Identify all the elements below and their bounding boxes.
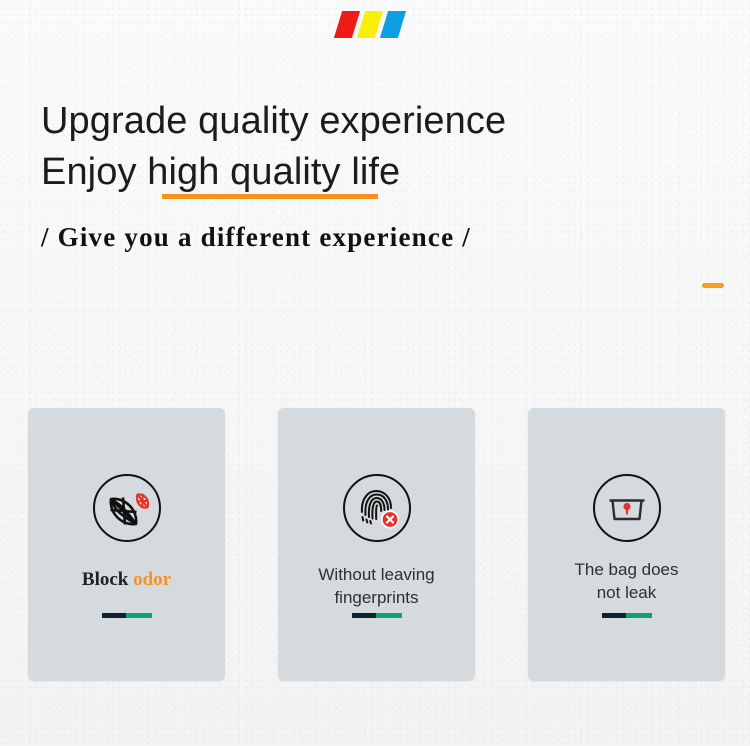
- feature-card-list: Block odor: [28, 408, 725, 681]
- feature-card-no-leak[interactable]: The bag does not leak: [528, 408, 725, 681]
- feature-card-no-fingerprints[interactable]: Without leaving fingerprints: [278, 408, 475, 681]
- feature-card-title-accent: odor: [133, 569, 171, 590]
- feature-card-dash: [102, 613, 152, 618]
- headline-line-2: Enjoy high quality life: [41, 151, 400, 193]
- brand-bar-red: [334, 11, 360, 38]
- feature-card-title-line-2: fingerprints: [286, 586, 467, 609]
- feature-card-title: Without leaving fingerprints: [278, 563, 475, 609]
- subtitle: / Give you a different experience /: [41, 222, 471, 253]
- dash-segment-teal: [376, 613, 402, 618]
- dash-segment-teal: [126, 613, 152, 618]
- feature-card-title: The bag does not leak: [528, 558, 725, 604]
- feature-card-title-line-2: not leak: [536, 581, 717, 604]
- dash-segment-dark: [352, 613, 376, 618]
- headline-line-1: Upgrade quality experience: [41, 96, 681, 147]
- feature-card-title-plain: Block: [82, 569, 133, 590]
- dash-segment-teal: [626, 613, 652, 618]
- dash-segment-dark: [102, 613, 126, 618]
- feature-card-dash: [352, 613, 402, 618]
- accent-dash: [702, 283, 724, 288]
- feature-card-title-line-1: The bag does: [536, 558, 717, 581]
- brand-bar-yellow: [357, 11, 383, 38]
- dash-segment-dark: [602, 613, 626, 618]
- feature-card-title-line-1: Without leaving: [286, 563, 467, 586]
- feature-card-block-odor[interactable]: Block odor: [28, 408, 225, 681]
- fingerprint-blocked-icon: [341, 472, 413, 544]
- brand-bar-group: [338, 11, 402, 38]
- leaf-odor-icon: [91, 472, 163, 544]
- headline-underline-accent: [162, 194, 378, 199]
- brand-bar-blue: [380, 11, 406, 38]
- headline-line-2-wrap: Enjoy high quality life: [41, 147, 400, 198]
- sealed-bag-icon: [591, 472, 663, 544]
- feature-card-title: Block odor: [28, 568, 225, 591]
- feature-card-dash: [602, 613, 652, 618]
- headline-block: Upgrade quality experience Enjoy high qu…: [41, 96, 681, 198]
